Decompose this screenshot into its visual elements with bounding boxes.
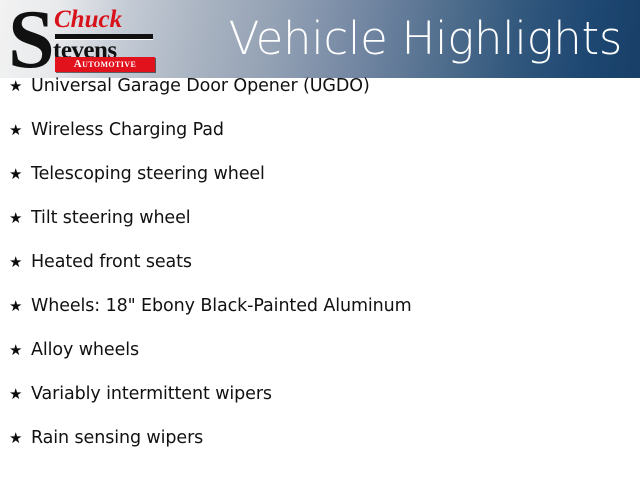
list-item: ★ Telescoping steering wheel: [0, 166, 640, 210]
list-item: ★ Wireless Charging Pad: [0, 122, 640, 166]
list-item-label: Alloy wheels: [31, 342, 139, 360]
star-icon: ★: [9, 123, 31, 138]
vehicle-highlights-list: ★ Universal Garage Door Opener (UGDO) ★ …: [0, 78, 640, 474]
star-icon: ★: [9, 255, 31, 270]
list-item: ★ Wheels: 18" Ebony Black-Painted Alumin…: [0, 298, 640, 342]
logo-automotive-bar: Automotive: [55, 57, 155, 72]
list-item-label: Heated front seats: [31, 254, 192, 272]
list-item: ★ Rain sensing wipers: [0, 430, 640, 474]
star-icon: ★: [9, 299, 31, 314]
list-item: ★ Universal Garage Door Opener (UGDO): [0, 78, 640, 122]
dealer-logo: S Chuck tevens Automotive: [8, 4, 168, 76]
list-item: ★ Variably intermittent wipers: [0, 386, 640, 430]
list-item-label: Wheels: 18" Ebony Black-Painted Aluminum: [31, 298, 412, 316]
logo-automotive-label: Automotive: [55, 57, 155, 72]
star-icon: ★: [9, 431, 31, 446]
list-item-label: Telescoping steering wheel: [31, 166, 265, 184]
star-icon: ★: [9, 167, 31, 182]
page-title: Vehicle Highlights: [229, 9, 622, 69]
list-item: ★ Tilt steering wheel: [0, 210, 640, 254]
list-item-label: Wireless Charging Pad: [31, 122, 224, 140]
star-icon: ★: [9, 387, 31, 402]
vehicle-highlights-page: S Chuck tevens Automotive Vehicle Highli…: [0, 0, 640, 480]
list-item-label: Rain sensing wipers: [31, 430, 203, 448]
list-item-label: Universal Garage Door Opener (UGDO): [31, 78, 370, 96]
star-icon: ★: [9, 211, 31, 226]
list-item-label: Tilt steering wheel: [31, 210, 191, 228]
list-item: ★ Heated front seats: [0, 254, 640, 298]
logo-monogram-s: S: [8, 0, 53, 78]
list-item-label: Variably intermittent wipers: [31, 386, 272, 404]
star-icon: ★: [9, 79, 31, 94]
star-icon: ★: [9, 343, 31, 358]
page-header-banner: S Chuck tevens Automotive Vehicle Highli…: [0, 0, 640, 78]
logo-word-chuck: Chuck: [54, 7, 122, 32]
list-item: ★ Alloy wheels: [0, 342, 640, 386]
